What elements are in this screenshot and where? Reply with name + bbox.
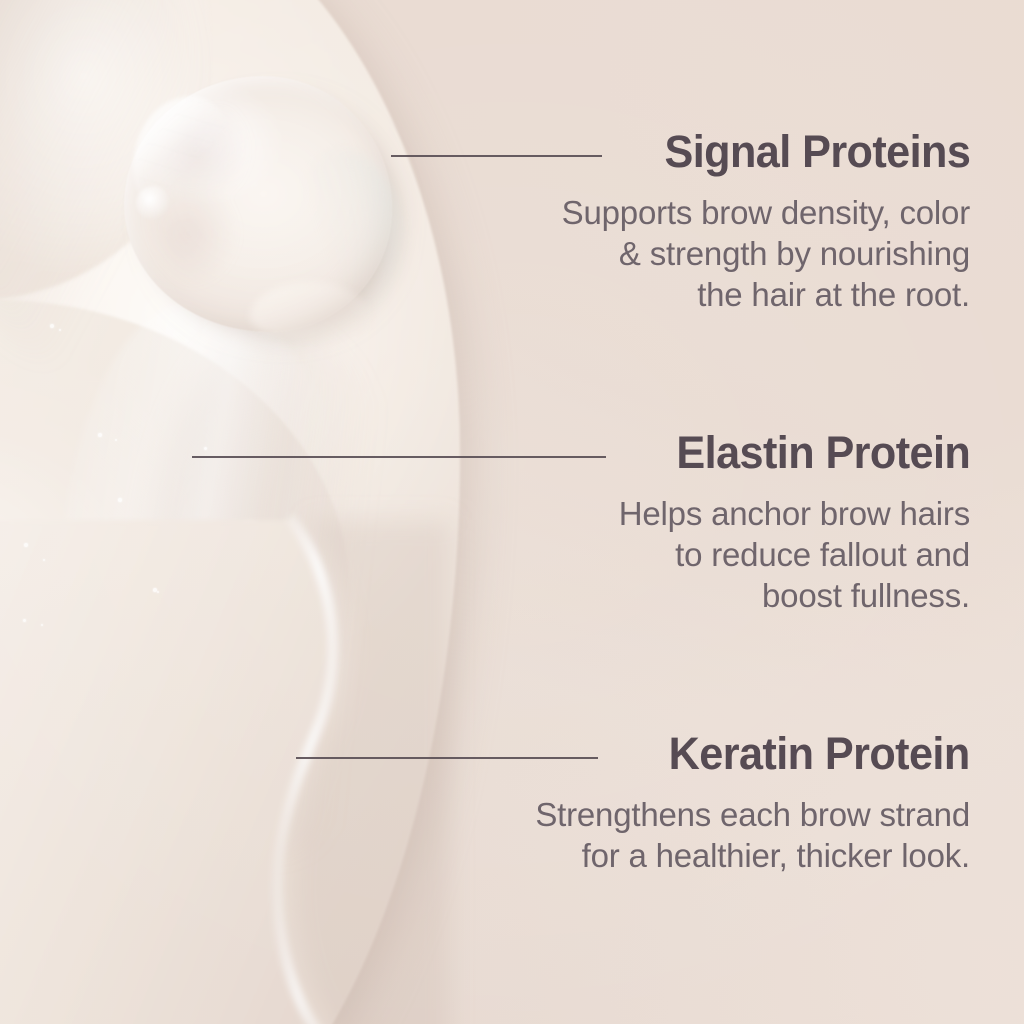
callout-body-signal-proteins: Supports brow density, color & strength … (562, 192, 970, 315)
callout-title-keratin-protein: Keratin Protein (553, 731, 970, 776)
callout-keratin-protein: Keratin Protein Strengthens each brow st… (535, 731, 970, 876)
callout-body-keratin-protein: Strengthens each brow strand for a healt… (535, 794, 970, 876)
callout-content: Signal Proteins Supports brow density, c… (0, 0, 1024, 1024)
callout-elastin-protein: Elastin Protein Helps anchor brow hairs … (619, 430, 970, 616)
leader-line-elastin-protein (192, 456, 606, 458)
callout-body-elastin-protein: Helps anchor brow hairs to reduce fallou… (619, 493, 970, 616)
callout-signal-proteins: Signal Proteins Supports brow density, c… (562, 129, 970, 315)
infographic-canvas: Signal Proteins Supports brow density, c… (0, 0, 1024, 1024)
callout-title-elastin-protein: Elastin Protein (633, 430, 970, 475)
callout-title-signal-proteins: Signal Proteins (578, 129, 970, 174)
